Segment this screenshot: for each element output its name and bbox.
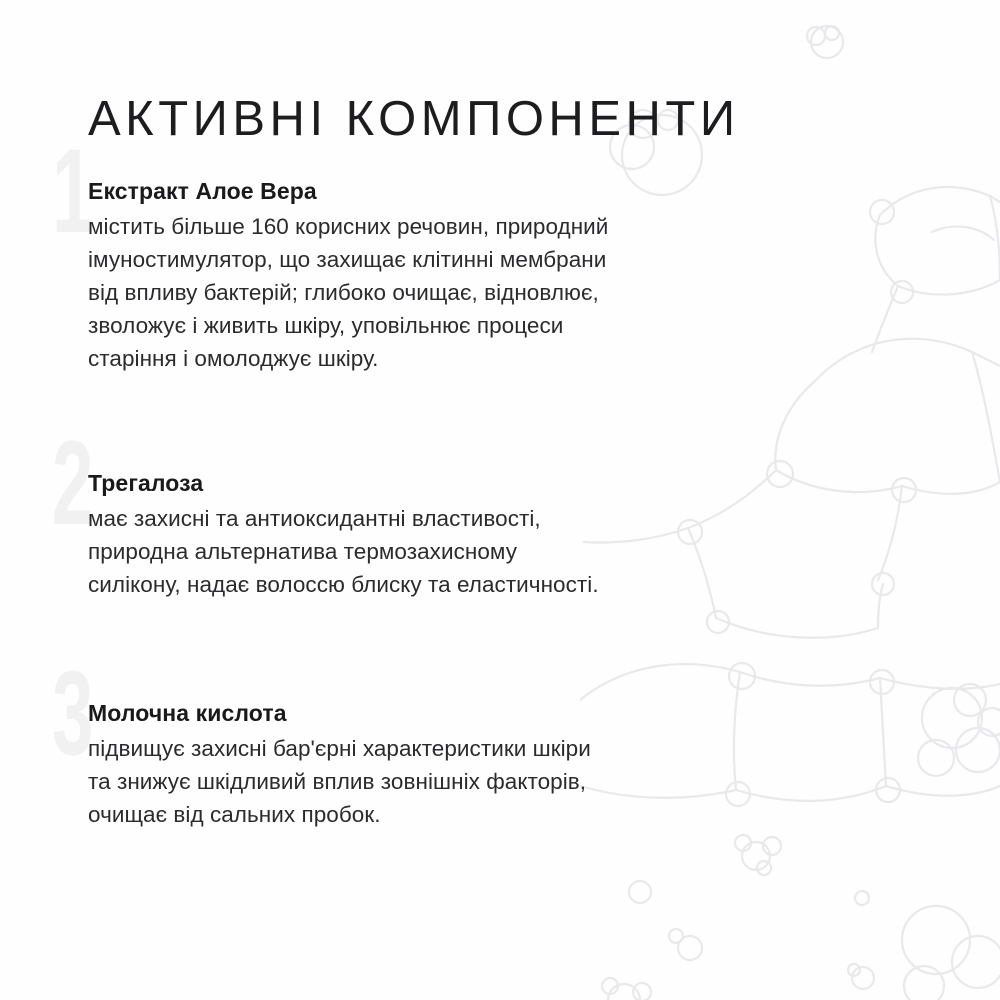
ingredient-name-2: Трегалоза bbox=[88, 470, 820, 498]
ingredient-number-2: 2 bbox=[52, 423, 90, 543]
ingredient-block-3: 3 Молочна кислота підвищує захисні бар'є… bbox=[0, 700, 820, 831]
ingredient-description-3: підвищує захисні бар'єрні характеристики… bbox=[88, 732, 788, 831]
description-line: підвищує захисні бар'єрні характеристики… bbox=[88, 732, 788, 765]
ingredient-number-3: 3 bbox=[52, 653, 90, 773]
page-title: АКТИВНІ КОМПОНЕНТИ bbox=[88, 91, 740, 147]
ingredient-content-1: Екстракт Алое Вера містить більше 160 ко… bbox=[88, 178, 820, 375]
description-line: силікону, надає волоссю блиску та еласти… bbox=[88, 568, 788, 601]
ingredient-name-3: Молочна кислота bbox=[88, 700, 820, 728]
ingredient-content-2: Трегалоза має захисні та антиоксидантні … bbox=[88, 470, 820, 601]
ingredient-content-3: Молочна кислота підвищує захисні бар'єрн… bbox=[88, 700, 820, 831]
description-line: та знижує шкідливий вплив зовнішніх факт… bbox=[88, 765, 788, 798]
ingredient-number-1: 1 bbox=[52, 131, 90, 251]
description-line: зволожує і живить шкіру, уповільнює проц… bbox=[88, 309, 788, 342]
ingredient-block-2: 2 Трегалоза має захисні та антиоксидантн… bbox=[0, 470, 820, 601]
slide-canvas: АКТИВНІ КОМПОНЕНТИ 1 Екстракт Алое Вера … bbox=[0, 0, 1000, 1000]
description-line: від впливу бактерій; глибоко очищає, від… bbox=[88, 276, 788, 309]
description-line: природна альтернатива термозахисному bbox=[88, 535, 788, 568]
ingredient-name-1: Екстракт Алое Вера bbox=[88, 178, 820, 206]
description-line: містить більше 160 корисних речовин, при… bbox=[88, 210, 788, 243]
description-line: має захисні та антиоксидантні властивост… bbox=[88, 502, 788, 535]
description-line: імуностимулятор, що захищає клітинні мем… bbox=[88, 243, 788, 276]
ingredient-description-1: містить більше 160 корисних речовин, при… bbox=[88, 210, 788, 375]
ingredient-description-2: має захисні та антиоксидантні властивост… bbox=[88, 502, 788, 601]
description-line: очищає від сальних пробок. bbox=[88, 798, 788, 831]
description-line: старіння і омолоджує шкіру. bbox=[88, 342, 788, 375]
ingredient-block-1: 1 Екстракт Алое Вера містить більше 160 … bbox=[0, 178, 820, 375]
